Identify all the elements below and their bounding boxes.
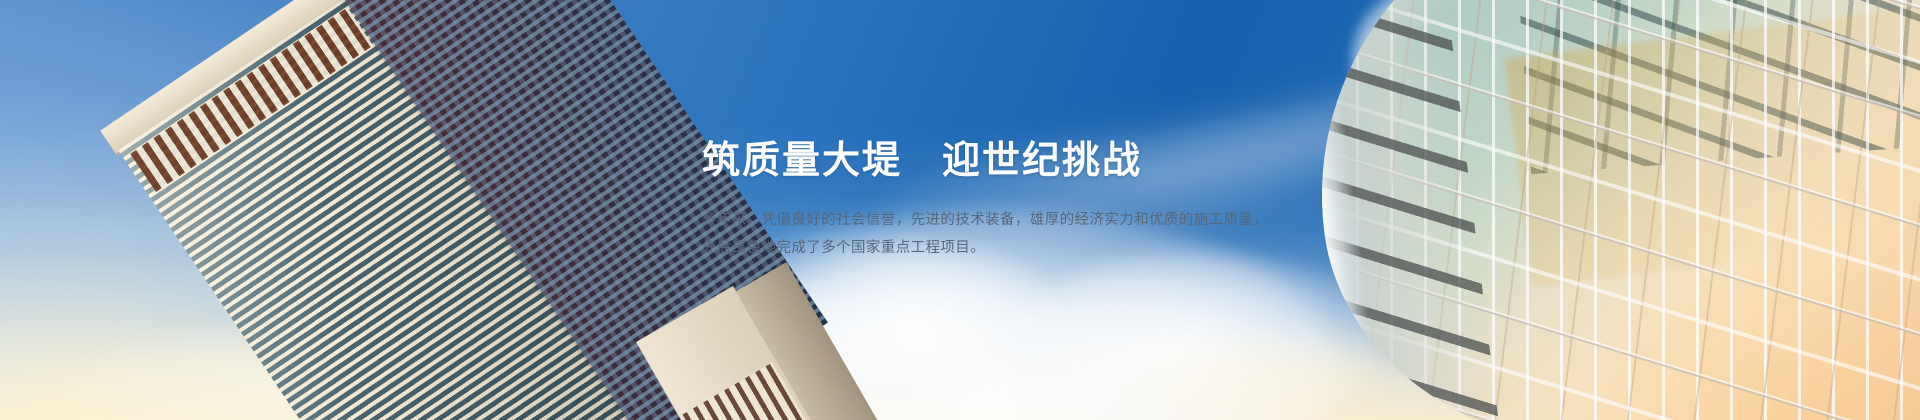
banner-subtitle-line-2: 先后出色地完成了多个国家重点工程项目。 [702, 234, 1322, 262]
curved-glass-skyscraper [1288, 0, 1920, 420]
banner-headline: 筑质量大堤 迎世纪挑战 [702, 138, 1322, 184]
hero-banner: 筑质量大堤 迎世纪挑战 多年来，凭借良好的社会信誉，先进的技术装备，雄厚的经济实… [0, 0, 1920, 420]
banner-subtitle: 多年来，凭借良好的社会信誉，先进的技术装备，雄厚的经济实力和优质的施工质量， 先… [702, 206, 1322, 262]
banner-copy-block: 筑质量大堤 迎世纪挑战 多年来，凭借良好的社会信誉，先进的技术装备，雄厚的经济实… [702, 138, 1322, 262]
banner-subtitle-line-1: 多年来，凭借良好的社会信誉，先进的技术装备，雄厚的经济实力和优质的施工质量， [702, 206, 1322, 234]
